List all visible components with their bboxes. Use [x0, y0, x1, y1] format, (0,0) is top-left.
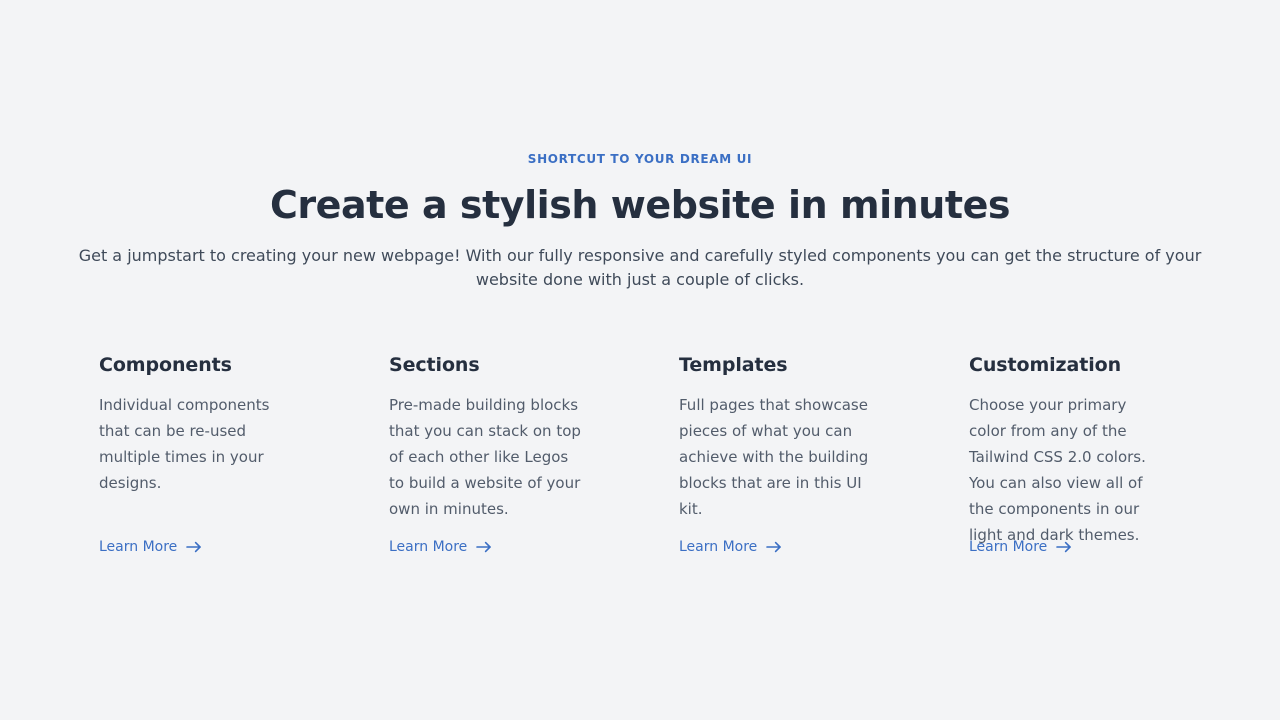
- arrow-right-icon: [766, 541, 782, 553]
- learn-more-label: Learn More: [99, 537, 177, 557]
- feature-title: Components: [99, 352, 294, 378]
- hero-subtitle: Get a jumpstart to creating your new web…: [78, 244, 1202, 292]
- feature-description: Individual components that can be re-use…: [99, 392, 294, 496]
- learn-more-link-sections[interactable]: Learn More: [389, 537, 492, 557]
- hero-eyebrow: SHORTCUT TO YOUR DREAM UI: [0, 150, 1280, 168]
- learn-more-link-components[interactable]: Learn More: [99, 537, 202, 557]
- feature-card-sections: Sections Pre-made building blocks that y…: [389, 352, 584, 557]
- arrow-right-icon: [1056, 541, 1072, 553]
- learn-more-label: Learn More: [969, 537, 1047, 557]
- hero-section: SHORTCUT TO YOUR DREAM UI Create a styli…: [0, 150, 1280, 292]
- feature-title: Sections: [389, 352, 584, 378]
- feature-description: Pre-made building blocks that you can st…: [389, 392, 584, 522]
- feature-card-customization: Customization Choose your primary color …: [969, 352, 1164, 557]
- learn-more-link-customization[interactable]: Learn More: [969, 537, 1072, 557]
- feature-description: Choose your primary color from any of th…: [969, 392, 1164, 548]
- feature-description: Full pages that showcase pieces of what …: [679, 392, 874, 522]
- feature-card-templates: Templates Full pages that showcase piece…: [679, 352, 874, 557]
- arrow-right-icon: [186, 541, 202, 553]
- learn-more-label: Learn More: [389, 537, 467, 557]
- page-title: Create a stylish website in minutes: [0, 182, 1280, 228]
- arrow-right-icon: [476, 541, 492, 553]
- feature-grid: Components Individual components that ca…: [99, 352, 1181, 557]
- learn-more-label: Learn More: [679, 537, 757, 557]
- feature-card-components: Components Individual components that ca…: [99, 352, 294, 557]
- learn-more-link-templates[interactable]: Learn More: [679, 537, 782, 557]
- landing-page: SHORTCUT TO YOUR DREAM UI Create a styli…: [0, 0, 1280, 720]
- feature-title: Templates: [679, 352, 874, 378]
- feature-title: Customization: [969, 352, 1164, 378]
